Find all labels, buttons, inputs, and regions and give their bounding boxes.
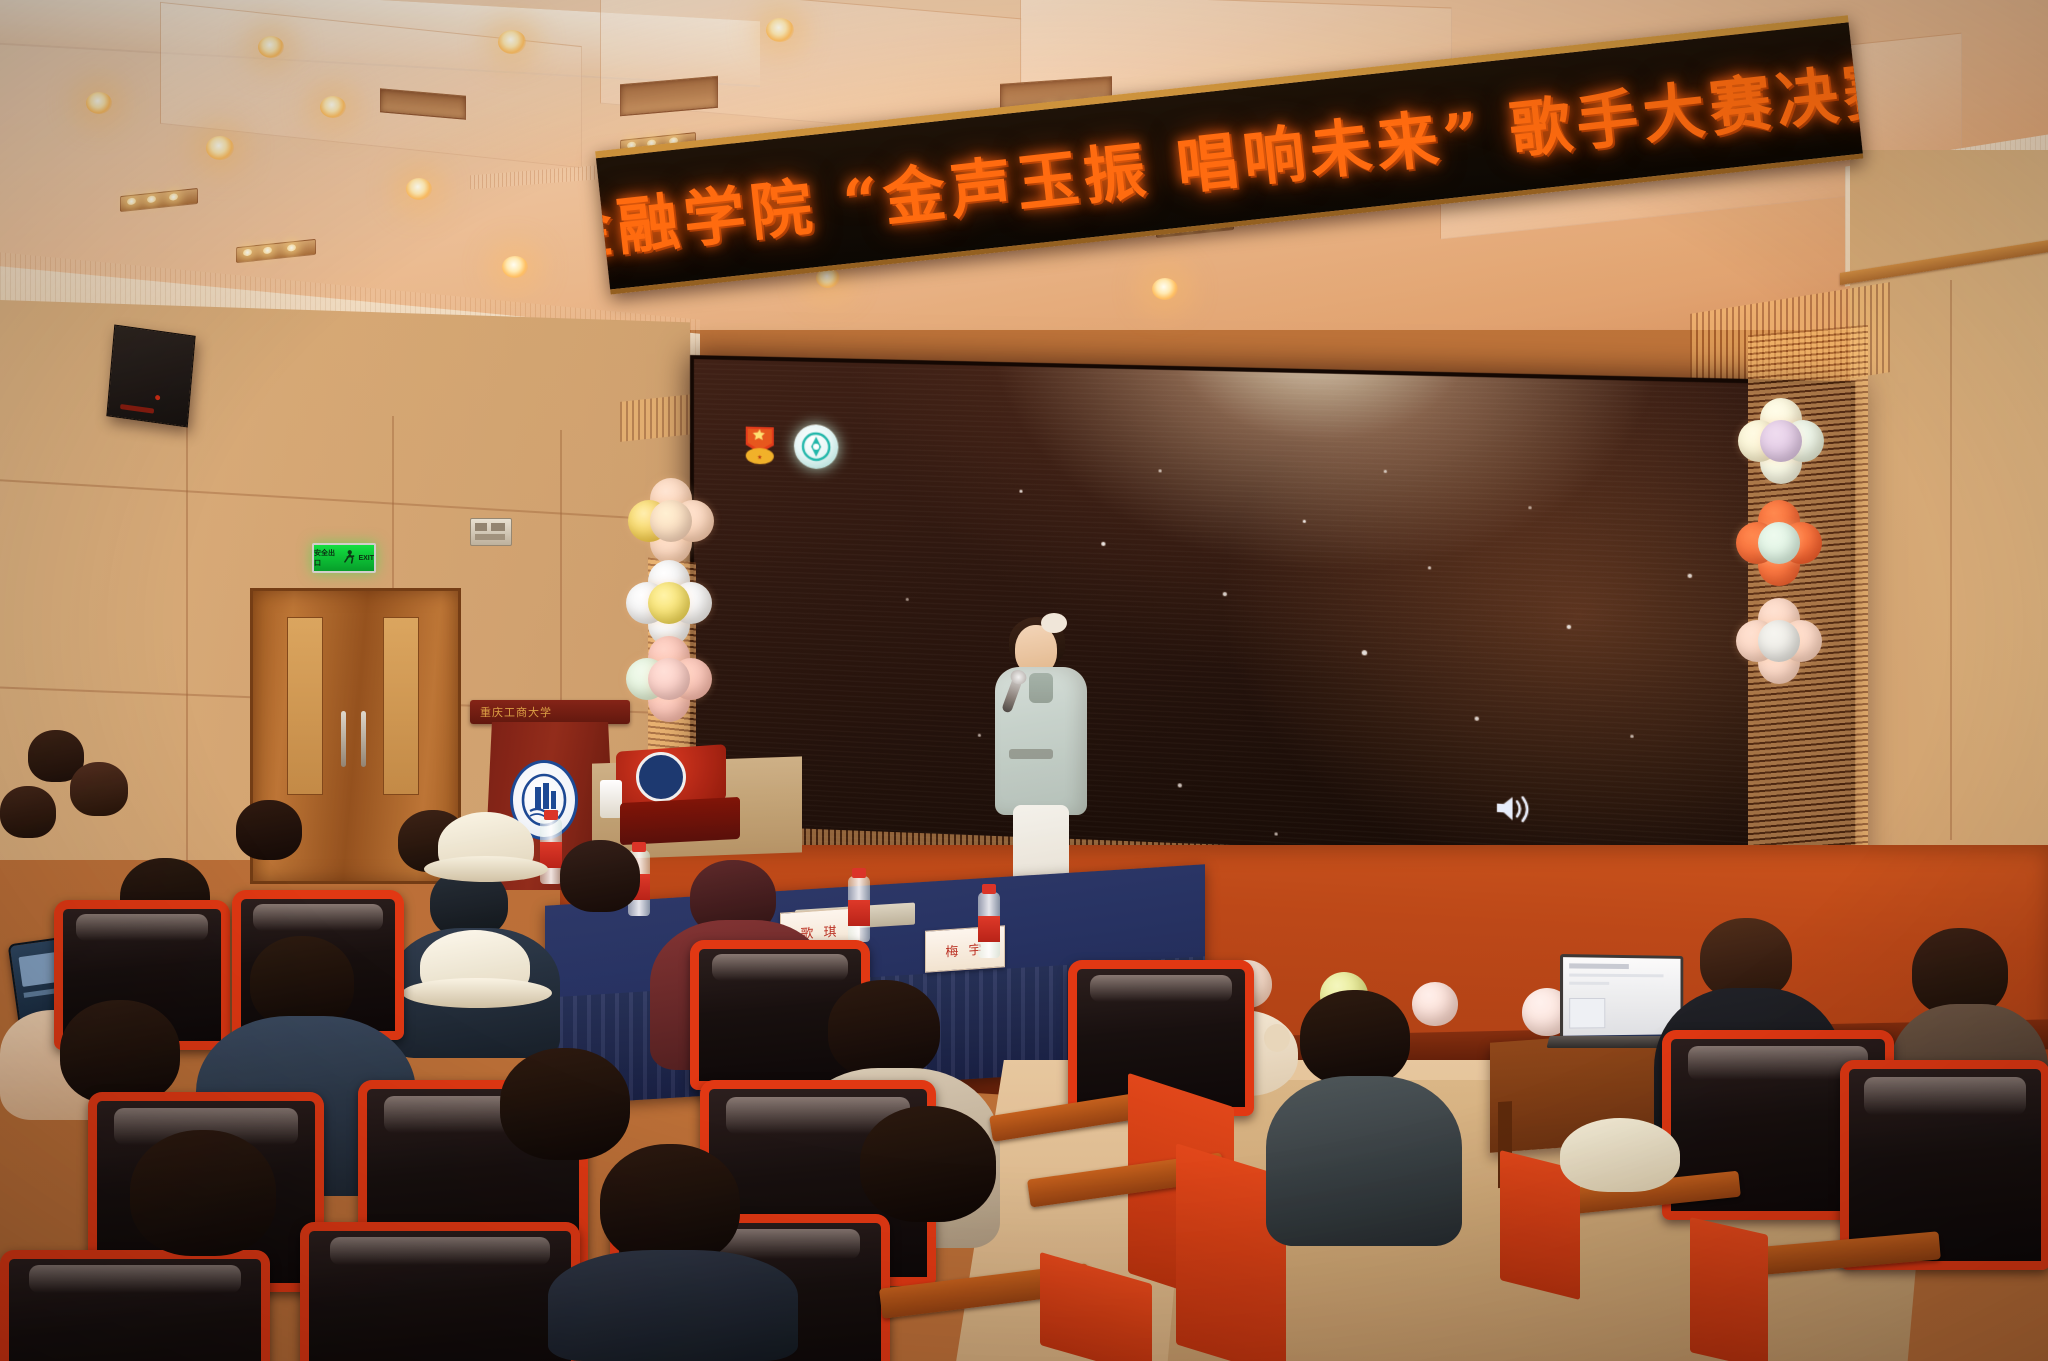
audience-head [500,1048,630,1160]
audience-head [1300,990,1410,1086]
ceiling-downlight [86,92,112,114]
bucket-hat-brim [424,856,548,882]
seat-gloss [29,1265,241,1293]
svg-text:★: ★ [757,454,762,461]
audience-head [828,980,940,1078]
audience-head [250,936,354,1028]
exit-sign: 安全出口 EXIT [312,543,376,573]
seat-back [300,1222,580,1361]
ceiling-downlight [498,30,526,54]
exit-sign-label-en: EXIT [358,555,374,562]
audience-head [70,762,128,816]
ceiling-downlight [502,256,528,278]
exit-sign-label-cn: 安全出口 [314,548,341,568]
audience-head [130,1130,276,1256]
seat-gloss [1090,975,1231,1003]
balloon-flower [626,560,712,646]
balloon-flower [1738,398,1824,484]
door-handle-left[interactable] [341,711,346,767]
audience-head [60,1000,180,1104]
round-sign-logo [636,752,686,802]
volume-speaker-icon [1495,792,1533,826]
cap [1560,1118,1680,1192]
seat-gloss [330,1237,550,1265]
door-panel-right [383,617,419,795]
audience-head [0,786,56,838]
ceiling-downlight [320,96,346,118]
singer-hair-accessory [1041,613,1067,633]
audience-head [560,840,640,912]
balloon-flower [1736,500,1822,586]
water-bottle [540,818,562,884]
wall-speaker [106,324,195,427]
seat-side-panel [1690,1217,1768,1361]
water-bottle [848,876,870,942]
seat-gloss [253,904,382,930]
seat-gloss [76,914,209,940]
audience-head [860,1106,996,1222]
red-fabric [620,797,740,845]
paper-cup [600,780,622,818]
ceiling-downlight [406,178,432,200]
balloon-flower [1736,598,1822,684]
ceiling-downlight [766,18,794,42]
wall-control-panel [470,518,512,546]
auditorium-seat[interactable] [300,1222,580,1361]
circular-teal-logo [794,424,838,470]
audience-body [548,1250,798,1361]
wall-seam [1950,280,1952,840]
door-panel-left [287,617,323,795]
ceiling-downlight [206,136,234,160]
floor-balloon [1412,982,1458,1026]
party-emblem-logo: ★ [740,422,780,467]
auditorium-scene: 安全出口 EXIT 金融学院 “金声玉振 唱响未来” 歌手大赛决赛 [0,0,2048,1361]
wall-seam [186,400,188,870]
water-bottle [978,892,1000,958]
seat-gloss [1864,1077,2025,1115]
door-handle-right[interactable] [361,711,366,767]
balloon-flower [628,478,714,564]
podium-top: 重庆工商大学 [470,700,630,724]
running-man-icon [343,549,356,567]
audience-head [236,800,302,860]
podium-university-name: 重庆工商大学 [480,704,552,720]
audience-body [1266,1076,1462,1246]
seat-back [0,1250,270,1361]
audience-head [600,1144,740,1264]
bucket-hat-brim [402,978,552,1008]
audience-head [1912,928,2008,1016]
seat-gloss [712,954,848,980]
ceiling-downlight [258,36,284,58]
auditorium-seat[interactable] [0,1250,270,1361]
balloon-flower [626,636,712,722]
